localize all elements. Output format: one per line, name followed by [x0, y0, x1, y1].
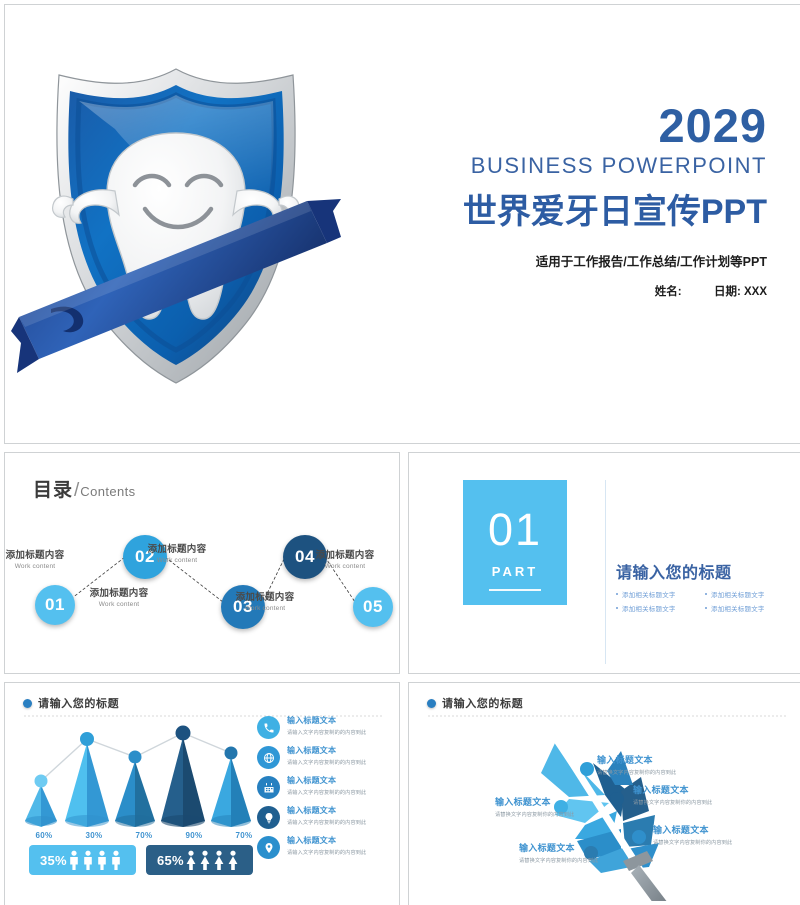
gender-split-row: 35% 65% [29, 845, 253, 875]
part-word: PART [492, 564, 538, 579]
feather-label-4[interactable]: 输入标题文本 请替换文字内容复制你的内容到此 [653, 823, 732, 846]
tooth-shield-mascot-icon [11, 47, 341, 392]
slide-cone-chart[interactable]: 请输入您的标题 [4, 682, 400, 905]
title-tagline: 适用于工作报告/工作总结/工作计划等PPT [367, 251, 767, 270]
slide-deck: 2029 BUSINESS POWERPOINT 世界爱牙日宣传PPT 适用于工… [0, 0, 800, 905]
icon-item-4-desc: 请输入文字内容复制的的内容到此 [287, 819, 366, 826]
toc-node-05-number: 05 [363, 597, 383, 617]
feather-label-4-desc: 请替换文字内容复制你的内容到此 [653, 839, 732, 846]
contents-heading: 目录 / Contents [33, 475, 136, 502]
toc-node-01-number: 01 [45, 595, 65, 615]
toc-label-05: 添加标题内容 Work content [293, 547, 397, 570]
feather-label-2[interactable]: 输入标题文本 请替换文字内容复制你的内容到此 [495, 795, 574, 818]
part-number: 01 [488, 507, 542, 552]
feather-node-5 [632, 830, 646, 844]
icon-list-text-2: 输入标题文本 请输入文字内容复制的的内容到此 [287, 745, 366, 766]
toc-label-01-cn: 添加标题内容 [4, 547, 87, 561]
phone-icon [257, 716, 280, 739]
icon-item-2-title: 输入标题文本 [287, 745, 366, 756]
feather-header-title: 请输入您的标题 [442, 695, 523, 711]
chart-tick-3: 70% [136, 831, 153, 840]
part-title: 请输入您的标题 [616, 559, 786, 583]
toc-label-03: 添加标题内容 Work content [125, 541, 229, 564]
icon-item-3-desc: 请输入文字内容复制的的内容到此 [287, 789, 366, 796]
contents-heading-slash: / [74, 480, 79, 502]
toc-label-02: 添加标题内容 Work content [67, 585, 171, 608]
slide-contents[interactable]: 目录 / Contents 01 添加标题内容 Work content 02 [4, 452, 400, 674]
feather-node-1 [580, 762, 594, 776]
slide-part-divider[interactable]: 01 PART 请输入您的标题 添加相关标题文字 添加相关标题文字 添加相关标题… [408, 452, 800, 674]
contents-diagram: 01 添加标题内容 Work content 02 添加标题内容 Work co… [5, 509, 399, 669]
feather-label-2-desc: 请替换文字内容复制你的内容到此 [495, 811, 574, 818]
feather-label-5[interactable]: 输入标题文本 请替换文字内容复制你的内容到此 [519, 841, 598, 864]
chart-tick-5: 70% [236, 831, 253, 840]
feather-label-5-desc: 请替换文字内容复制你的内容到此 [519, 857, 598, 864]
feather-label-5-title: 输入标题文本 [519, 841, 598, 854]
bullet-dot-icon [23, 699, 32, 708]
gender-bar-female[interactable]: 65% [146, 845, 253, 875]
toc-label-04: 添加标题内容 Work content [213, 589, 317, 612]
feather-label-3-title: 输入标题文本 [633, 783, 712, 796]
feather-label-1[interactable]: 输入标题文本 请替换文字内容复制你的内容到此 [597, 753, 676, 776]
part-bullet-list: 添加相关标题文字 添加相关标题文字 添加相关标题文字 添加相关标题文字 [616, 589, 786, 613]
slide-feather-diagram[interactable]: 请输入您的标题 [408, 682, 800, 905]
toc-label-05-cn: 添加标题内容 [293, 547, 397, 561]
contents-heading-en: Contents [80, 484, 135, 499]
chart-axis-labels: 60% 30% 70% 90% 70% [19, 831, 269, 840]
icon-list-item-3[interactable]: 输入标题文本 请输入文字内容复制的的内容到此 [257, 775, 387, 799]
icon-item-2-desc: 请输入文字内容复制的的内容到此 [287, 759, 366, 766]
toc-label-04-cn: 添加标题内容 [213, 589, 317, 603]
title-meta-row: 姓名: 日期: XXX [367, 283, 767, 299]
icon-item-1-desc: 请输入文字内容复制的的内容到此 [287, 729, 366, 736]
title-main-cn: 世界爱牙日宣传PPT [367, 184, 767, 233]
gender-female-pct: 65% [157, 853, 184, 868]
icon-list-text-4: 输入标题文本 请输入文字内容复制的的内容到此 [287, 805, 366, 826]
lightbulb-icon [257, 806, 280, 829]
toc-label-01: 添加标题内容 Work content [4, 547, 87, 570]
feather-label-3-desc: 请替换文字内容复制你的内容到此 [633, 799, 712, 806]
gender-bar-male[interactable]: 35% [29, 845, 136, 875]
feather-label-2-title: 输入标题文本 [495, 795, 574, 808]
part-underline [489, 589, 541, 591]
chart-section-header: 请输入您的标题 [23, 695, 383, 717]
icon-item-3-title: 输入标题文本 [287, 775, 366, 786]
globe-icon [257, 746, 280, 769]
part-bullet-1: 添加相关标题文字 [616, 589, 697, 599]
icon-list-item-5[interactable]: 输入标题文本 请输入文字内容复制的的内容到此 [257, 835, 387, 859]
cone-bar-chart [19, 719, 269, 831]
feather-node-3 [610, 792, 624, 806]
male-figures-icon [68, 850, 126, 870]
icon-item-5-desc: 请输入文字内容复制的的内容到此 [287, 849, 366, 856]
icon-list-item-1[interactable]: 输入标题文本 请输入文字内容复制的的内容到此 [257, 715, 387, 739]
title-date-label: 日期: XXX [714, 286, 767, 298]
part-bullet-2: 添加相关标题文字 [705, 589, 786, 599]
gender-male-pct: 35% [40, 853, 67, 868]
toc-label-02-en: Work content [67, 601, 171, 608]
chart-tick-2: 30% [86, 831, 103, 840]
feather-graphic-area: 输入标题文本 请替换文字内容复制你的内容到此 输入标题文本 请替换文字内容复制你… [409, 711, 800, 901]
chart-header-title: 请输入您的标题 [38, 695, 119, 711]
toc-label-05-en: Work content [293, 563, 397, 570]
icon-item-5-title: 输入标题文本 [287, 835, 366, 846]
icon-item-4-title: 输入标题文本 [287, 805, 366, 816]
part-number-box[interactable]: 01 PART [463, 480, 567, 605]
slide-title[interactable]: 2029 BUSINESS POWERPOINT 世界爱牙日宣传PPT 适用于工… [4, 4, 800, 444]
calendar-icon [257, 776, 280, 799]
feather-label-3[interactable]: 输入标题文本 请替换文字内容复制你的内容到此 [633, 783, 712, 806]
icon-list-text-5: 输入标题文本 请输入文字内容复制的的内容到此 [287, 835, 366, 856]
toc-label-03-cn: 添加标题内容 [125, 541, 229, 555]
toc-label-01-en: Work content [4, 563, 87, 570]
part-text-block: 请输入您的标题 添加相关标题文字 添加相关标题文字 添加相关标题文字 添加相关标… [616, 559, 786, 613]
location-icon [257, 836, 280, 859]
contents-heading-cn: 目录 [33, 475, 73, 502]
title-name-label: 姓名: [655, 286, 682, 298]
chart-icon-list: 输入标题文本 请输入文字内容复制的的内容到此 输入标题文本 请输入文字内容复制的… [257, 715, 387, 865]
toc-label-03-en: Work content [125, 557, 229, 564]
icon-list-item-4[interactable]: 输入标题文本 请输入文字内容复制的的内容到此 [257, 805, 387, 829]
title-year: 2029 [367, 101, 767, 150]
title-subtitle-en: BUSINESS POWERPOINT [367, 153, 767, 179]
icon-list-text-1: 输入标题文本 请输入文字内容复制的的内容到此 [287, 715, 366, 736]
part-vertical-divider [605, 480, 606, 664]
feather-label-1-desc: 请替换文字内容复制你的内容到此 [597, 769, 676, 776]
chart-tick-1: 60% [36, 831, 53, 840]
toc-label-02-cn: 添加标题内容 [67, 585, 171, 599]
female-figures-icon [185, 850, 243, 870]
title-text-block: 2029 BUSINESS POWERPOINT 世界爱牙日宣传PPT 适用于工… [367, 101, 767, 299]
feather-label-4-title: 输入标题文本 [653, 823, 732, 836]
icon-list-item-2[interactable]: 输入标题文本 请输入文字内容复制的的内容到此 [257, 745, 387, 769]
feather-label-1-title: 输入标题文本 [597, 753, 676, 766]
feather-quill-icon [409, 711, 800, 901]
part-bullet-3: 添加相关标题文字 [616, 603, 697, 613]
toc-node-05[interactable]: 05 [353, 587, 393, 627]
toc-label-04-en: Work content [213, 605, 317, 612]
icon-list-text-3: 输入标题文本 请输入文字内容复制的的内容到此 [287, 775, 366, 796]
bullet-dot-icon [427, 699, 436, 708]
chart-tick-4: 90% [186, 831, 203, 840]
part-bullet-4: 添加相关标题文字 [705, 603, 786, 613]
icon-item-1-title: 输入标题文本 [287, 715, 366, 726]
